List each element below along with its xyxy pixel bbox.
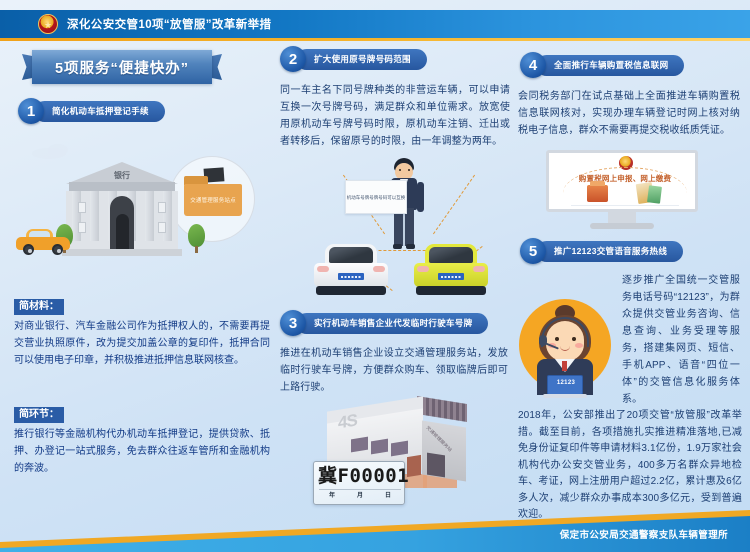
ribbon-body: 5项服务“便捷快办” (32, 50, 212, 84)
tree-icon (188, 224, 205, 253)
section-1-block-1-text: 对商业银行、汽车金融公司作为抵押权人的，不需要再提交营业执照原件，改为提交加盖公… (14, 318, 270, 369)
section-5-title-pill: 推广12123交管语音服务热线 (536, 241, 683, 262)
headset-operator-icon: 12123 (517, 295, 617, 400)
header-title: 深化公安交管10项“放管服”改革新举措 (67, 16, 271, 32)
bank-column (145, 191, 154, 241)
dealership-illustration: 4S 交通管理服务站 冀F00001 年 月 日 (305, 398, 510, 518)
bank-column (72, 191, 81, 241)
ribbon-label: 5项服务“便捷快办” (55, 57, 189, 78)
laptop-label: 12123 (548, 380, 584, 386)
section-1-title: 简化机动车抵押登记手续 (52, 105, 149, 117)
monitor-stand (608, 212, 636, 223)
bank-window (158, 202, 166, 213)
section-3-text: 推进在机动车销售企业设立交通管理服务站，发放临时行驶车号牌，方便群众购车、领取临… (280, 345, 508, 396)
necktie (562, 361, 567, 371)
cash-icon (647, 185, 662, 203)
section-5-header[interactable]: 5 推广12123交管语音服务热线 (520, 238, 683, 264)
section-2-text: 同一车主名下同号牌种类的非营运车辆，可以申请互换一次号牌号码，满足群众和单位需求… (280, 82, 510, 150)
section-1-block-1: 简材料： 对商业银行、汽车金融公司作为抵押权人的，不需要再提交营业执照原件，改为… (14, 296, 270, 369)
plate-unit-day: 日 (385, 490, 391, 499)
cloud-icon (48, 144, 68, 156)
shop-window (391, 441, 408, 457)
summary-text: 2018年，公安部推出了20项交管“放管服”改革举措。截至目前，各项措施扎实推进… (518, 408, 742, 524)
section-3-number: 3 (280, 310, 306, 336)
bank-window (78, 222, 86, 233)
footer-organization: 保定市公安局交通警察支队车辆管理所 (560, 527, 728, 541)
section-5-number: 5 (520, 238, 546, 264)
plate-unit-year: 年 (329, 490, 335, 499)
laptop-base (543, 394, 587, 398)
section-1-block-2-tag: 简环节： (14, 407, 64, 423)
bank-window (78, 202, 86, 213)
section-1-block-2: 简环节： 推行银行等金融机构代办机动车抵押登记，提供贷款、抵押、办登记一站式服务… (14, 404, 270, 477)
section-1-header[interactable]: 1 简化机动车抵押登记手续 (18, 98, 165, 124)
bank-base (62, 249, 182, 256)
shop-window (351, 437, 368, 453)
bank-column (90, 191, 99, 241)
section-4-title-pill: 全面推行车辆购置税信息联网 (536, 55, 684, 76)
section-3-title: 实行机动车销售企业代发临时行驶车号牌 (314, 317, 472, 329)
shop-4s-label: 4S (338, 411, 357, 434)
bank-building-icon: 银行 (66, 162, 178, 258)
section-2-title-pill: 扩大使用原号牌号码范围 (296, 49, 427, 70)
tax-stamp-icon (587, 185, 608, 202)
dashed-connector (433, 175, 475, 235)
section-3-header[interactable]: 3 实行机动车销售企业代发临时行驶车号牌 (280, 310, 488, 336)
bank-column (163, 191, 172, 241)
bank-architrave (69, 182, 175, 191)
desktop-monitor-icon: 购置税网上申报、网上缴费 (528, 150, 718, 232)
plate-unit-month: 月 (357, 490, 363, 499)
bank-building-label: 银行 (66, 170, 178, 181)
laptop-icon: 12123 (547, 375, 583, 395)
section-4-header[interactable]: 4 全面推行车辆购置税信息联网 (520, 52, 684, 78)
monitor-base (590, 223, 654, 229)
shop-roof-tiles (417, 396, 467, 422)
orange-car-icon (16, 228, 70, 254)
held-sign: 机动车号牌号牌号码可以互换 (345, 180, 407, 214)
infographic-page: 深化公安交管10项“放管服”改革新举措 5项服务“便捷快办” 1 简化机动车抵押… (0, 0, 750, 552)
white-car-icon (314, 244, 388, 296)
plate-date-row: 年 月 日 (318, 490, 402, 499)
temporary-license-plate: 冀F00001 年 月 日 (313, 461, 405, 505)
shop-window (371, 439, 388, 455)
monitor-screen: 购置税网上申报、网上缴费 (546, 150, 698, 212)
shop-door-secondary (407, 455, 421, 477)
section-5-text: 逐步推广全国统一交管服务电话号码“12123”，为群众提供交管业务咨询、信息查询… (622, 272, 740, 408)
shop-door (427, 453, 445, 478)
section-3-title-pill: 实行机动车销售企业代发临时行驶车号牌 (296, 313, 488, 334)
screen-divider (571, 205, 679, 206)
bank-window (158, 222, 166, 233)
folder-label: 交通管理服务站点 (184, 196, 242, 204)
monitor-screen-text: 购置税网上申报、网上缴费 (549, 173, 701, 184)
section-2-header[interactable]: 2 扩大使用原号牌号码范围 (280, 46, 427, 72)
section-5-title: 推广12123交管语音服务热线 (554, 245, 667, 257)
section-2-title: 扩大使用原号牌号码范围 (314, 53, 411, 65)
top-header-bar: 深化公安交管10项“放管服”改革新举措 (0, 10, 750, 38)
section-4-number: 4 (520, 52, 546, 78)
plate-swap-illustration: 机动车号牌号牌号码可以互换 (300, 158, 515, 303)
section-2-number: 2 (280, 46, 306, 72)
bank-illustration: 交通管理服务站点 银行 (14, 140, 276, 290)
section-1-number: 1 (18, 98, 44, 124)
sign-text: 机动车号牌号牌号码可以互换 (347, 194, 406, 201)
section-4-text: 会同税务部门在试点基础上全面推进车辆购置税信息联网核对，实现办理车辆登记时网上核… (518, 88, 740, 139)
plate-number: 冀F00001 (318, 465, 402, 488)
yellow-car-icon (414, 244, 488, 296)
ribbon-banner: 5项服务“便捷快办” (22, 50, 222, 84)
bank-inner-door (116, 214, 129, 249)
section-4-title: 全面推行车辆购置税信息联网 (554, 59, 668, 71)
header-accent-line (0, 38, 750, 41)
section-1-block-2-text: 推行银行等金融机构代办机动车抵押登记，提供贷款、抵押、办登记一站式服务，免去群众… (14, 426, 270, 477)
police-emblem-icon (38, 14, 58, 34)
section-1-title-pill: 简化机动车抵押登记手续 (34, 101, 165, 122)
section-1-block-1-tag: 简材料： (14, 299, 64, 315)
